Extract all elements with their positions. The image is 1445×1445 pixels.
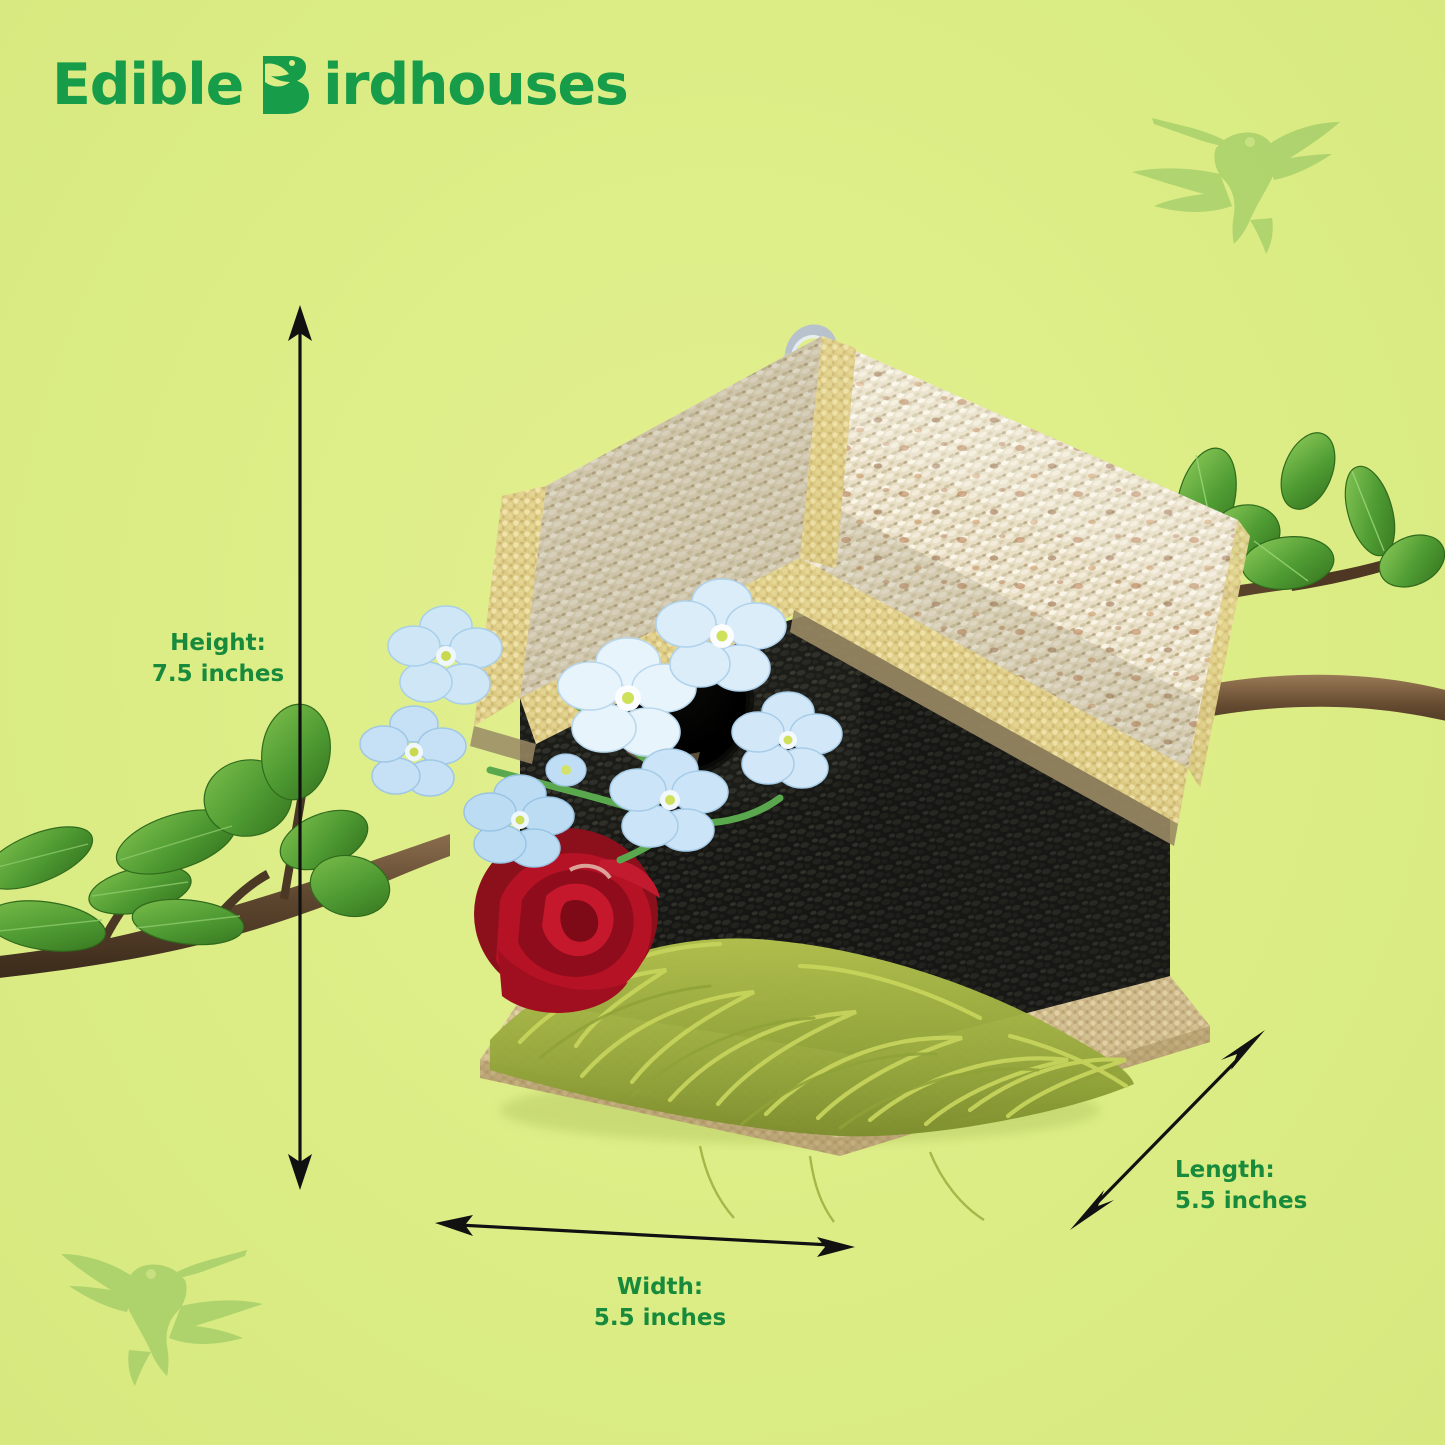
- height-label-value: 7.5 inches: [128, 659, 308, 690]
- length-label-title: Length:: [1175, 1155, 1385, 1186]
- brand-word-birdhouses: irdhouses: [323, 52, 627, 118]
- product-infographic: Edible irdhouses: [0, 0, 1445, 1445]
- brand-word-edible: Edible: [52, 52, 243, 118]
- width-dimension-label: Width: 5.5 inches: [545, 1272, 775, 1334]
- leaf-bird-monogram-icon: [259, 54, 311, 116]
- hummingbird-icon: [58, 1232, 263, 1387]
- width-label-title: Width:: [545, 1272, 775, 1303]
- height-label-title: Height:: [128, 628, 308, 659]
- length-dimension-label: Length: 5.5 inches: [1175, 1155, 1385, 1217]
- height-dimension-arrow: [280, 305, 320, 1190]
- branch-with-leaves: [0, 690, 450, 1020]
- length-label-value: 5.5 inches: [1175, 1186, 1385, 1217]
- height-dimension-label: Height: 7.5 inches: [128, 628, 308, 690]
- width-label-value: 5.5 inches: [545, 1303, 775, 1334]
- width-dimension-arrow: [435, 1215, 855, 1257]
- hummingbird-icon: [1128, 96, 1343, 256]
- brand-logo: Edible irdhouses: [52, 52, 628, 118]
